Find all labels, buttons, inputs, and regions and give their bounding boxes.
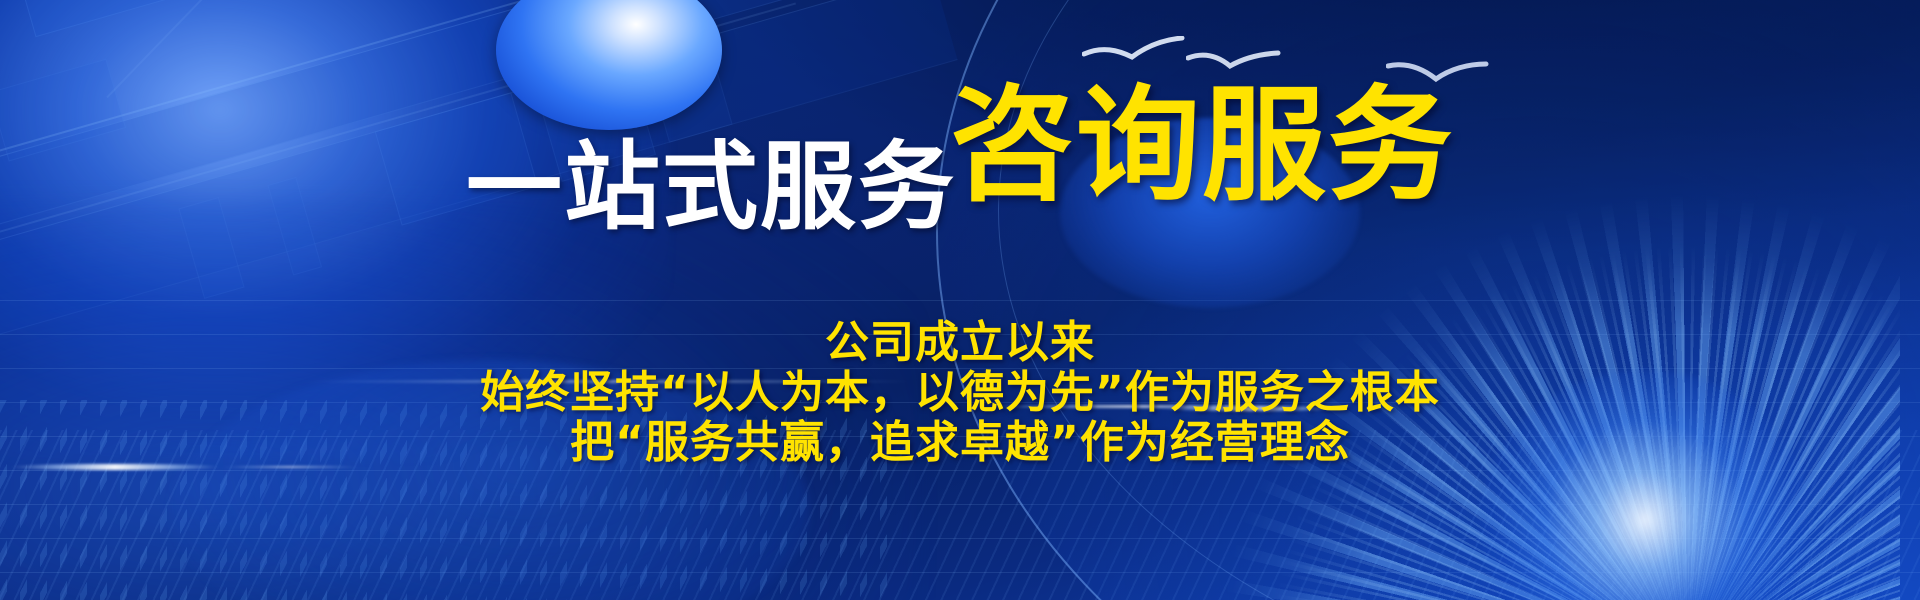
seagull-icon — [1082, 36, 1192, 70]
headline-white-text: 一站式服务 — [466, 131, 956, 243]
body-line-3: 把“服务共赢，追求卓越”作为经营理念 — [0, 418, 1920, 468]
headline-yellow-text: 咨询服务 — [950, 74, 1454, 218]
body-line-1: 公司成立以来 — [0, 318, 1920, 368]
headline: 一站式服务咨询服务 — [0, 84, 1920, 208]
body-line-2: 始终坚持“以人为本，以德为先”作为服务之根本 — [0, 368, 1920, 418]
body-copy: 公司成立以来 始终坚持“以人为本，以德为先”作为服务之根本 把“服务共赢，追求卓… — [0, 318, 1920, 468]
promo-banner: 一站式服务咨询服务 公司成立以来 始终坚持“以人为本，以德为先”作为服务之根本 … — [0, 0, 1920, 600]
